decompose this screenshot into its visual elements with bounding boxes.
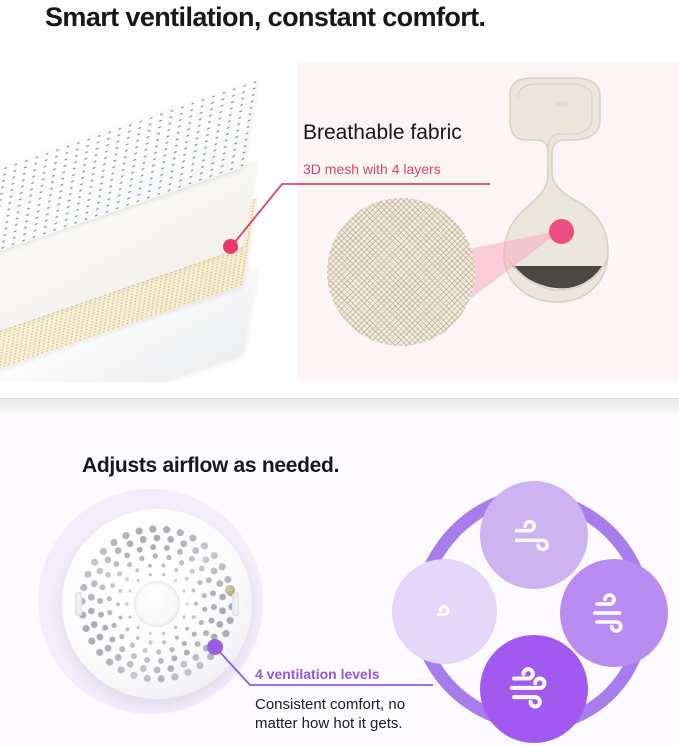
- airflow-callout-dot-icon: [207, 639, 223, 655]
- page-headline: Smart ventilation, constant comfort.: [45, 2, 485, 33]
- fabric-leader-line: [0, 62, 679, 382]
- airflow-callout-label: 4 ventilation levels: [255, 666, 380, 682]
- section-divider: [0, 398, 679, 416]
- airflow-caption: Consistent comfort, no matter how hot it…: [255, 695, 435, 733]
- breathable-fabric-section: Smart ventilation, constant comfort. Bre…: [0, 0, 679, 398]
- fabric-callout-dot-icon: [223, 239, 238, 254]
- product-callout-dot-icon: [549, 219, 574, 244]
